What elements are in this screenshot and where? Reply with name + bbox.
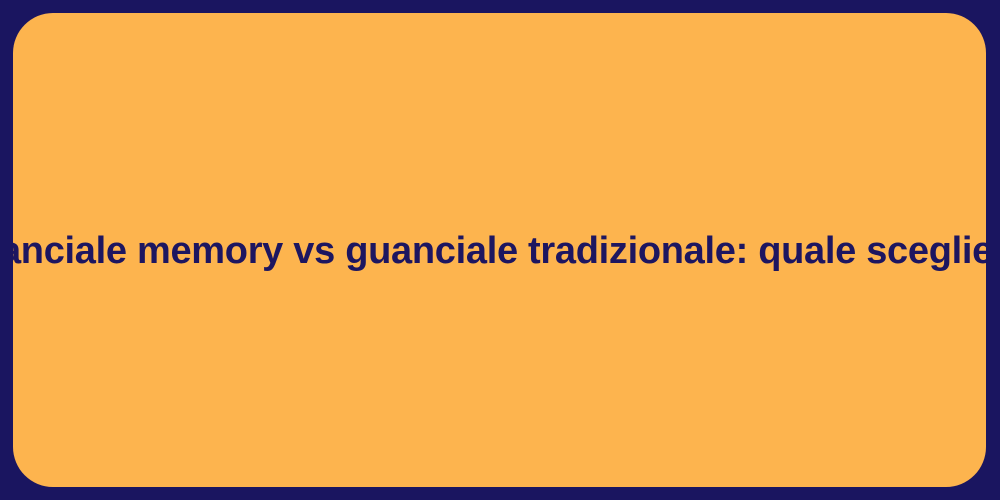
outer-frame: Guanciale memory vs guanciale tradiziona… bbox=[0, 0, 1000, 500]
page-title: Guanciale memory vs guanciale tradiziona… bbox=[13, 229, 986, 274]
headline-card: Guanciale memory vs guanciale tradiziona… bbox=[13, 13, 986, 487]
